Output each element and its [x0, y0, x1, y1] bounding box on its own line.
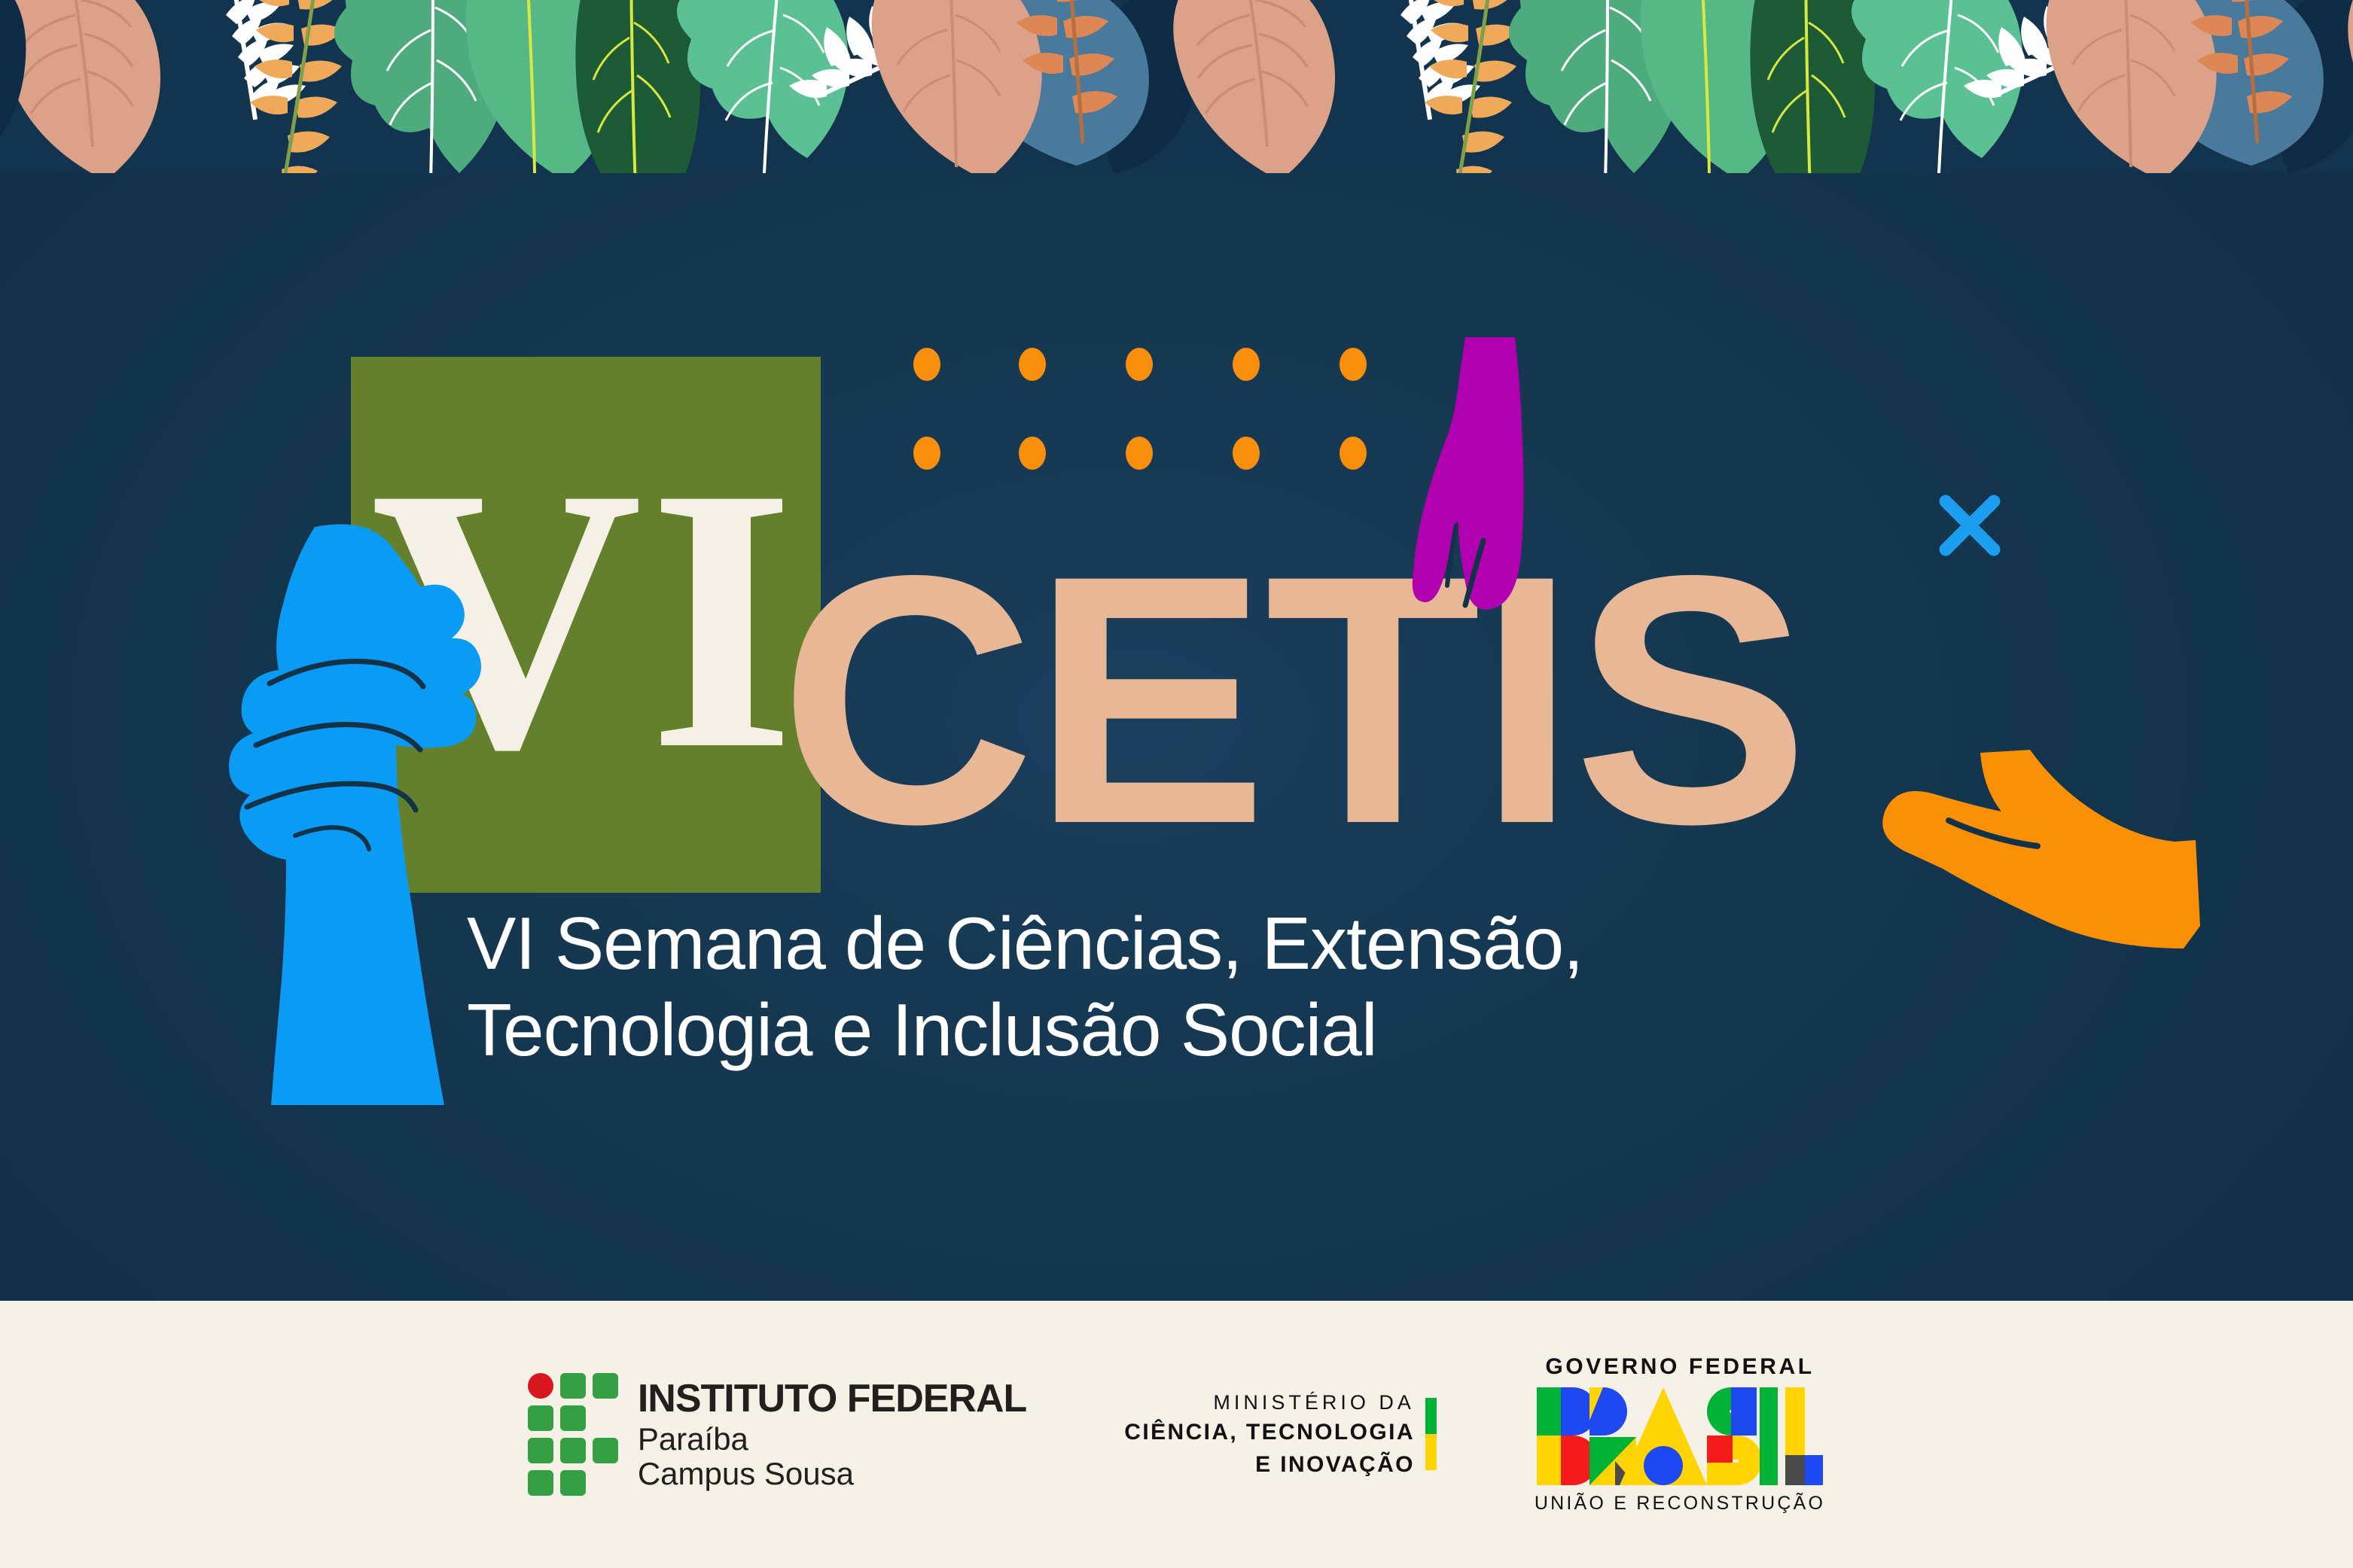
purple-hand-icon: [1401, 337, 1596, 653]
brasil-wordmark-icon: [1537, 1387, 1823, 1485]
if-grid-icon: [528, 1373, 618, 1496]
subtitle-line-1: VI Semana de Ciências, Extensão,: [467, 900, 2048, 987]
dot: [1233, 348, 1260, 381]
if-cell: [528, 1470, 553, 1496]
if-cell: [528, 1405, 553, 1431]
event-subtitle: VI Semana de Ciências, Extensão, Tecnolo…: [467, 900, 2048, 1073]
dot: [1233, 437, 1260, 470]
if-cell: [560, 1470, 586, 1496]
if-state: Paraíba: [638, 1423, 1026, 1455]
dot: [1126, 437, 1153, 470]
event-poster: VI CETIS: [0, 0, 2353, 1568]
dot: [1340, 437, 1367, 470]
footer-logo-bar: INSTITUTO FEDERAL Paraíba Campus Sousa M…: [0, 1301, 2353, 1568]
ministry-logo: MINISTÉRIO DA CIÊNCIA, TECNOLOGIA E INOV…: [1124, 1388, 1437, 1481]
if-cell: [560, 1405, 586, 1431]
ministry-line-1: MINISTÉRIO DA: [1124, 1388, 1415, 1417]
ministry-flag-bar-icon: [1425, 1398, 1437, 1470]
gov-top-text: GOVERNO FEDERAL: [1545, 1354, 1814, 1380]
if-cell: [560, 1373, 586, 1399]
x-accent-icon: [1932, 488, 2007, 563]
ministry-line-2: CIÊNCIA, TECNOLOGIA: [1124, 1417, 1415, 1449]
subtitle-line-2: Tecnologia e Inclusão Social: [467, 987, 2048, 1073]
instituto-federal-text: INSTITUTO FEDERAL Paraíba Campus Sousa: [638, 1379, 1026, 1490]
if-cell: [528, 1373, 553, 1399]
if-title: INSTITUTO FEDERAL: [638, 1379, 1026, 1418]
gov-bottom-text: UNIÃO E RECONSTRUÇÃO: [1535, 1493, 1825, 1515]
if-cell: [593, 1470, 618, 1496]
instituto-federal-logo: INSTITUTO FEDERAL Paraíba Campus Sousa: [528, 1373, 1026, 1496]
ministry-line-3: E INOVAÇÃO: [1124, 1449, 1415, 1481]
dot: [1340, 348, 1367, 381]
if-cell: [593, 1405, 618, 1431]
dot: [913, 437, 940, 470]
governo-federal-logo: GOVERNO FEDERAL: [1535, 1354, 1825, 1515]
dot: [1019, 348, 1046, 381]
dot: [1019, 437, 1046, 470]
cetis-acronym-text: CETIS: [779, 527, 1806, 873]
dot: [1126, 348, 1153, 381]
if-cell: [528, 1438, 553, 1463]
if-cell: [593, 1373, 618, 1399]
if-cell: [560, 1438, 586, 1463]
dot: [913, 348, 940, 381]
poster-main-area: VI CETIS: [0, 0, 2353, 1301]
if-cell: [593, 1438, 618, 1463]
ministry-text: MINISTÉRIO DA CIÊNCIA, TECNOLOGIA E INOV…: [1124, 1388, 1415, 1481]
blue-hand-icon: [226, 519, 497, 1107]
if-campus: Campus Sousa: [638, 1458, 1026, 1490]
